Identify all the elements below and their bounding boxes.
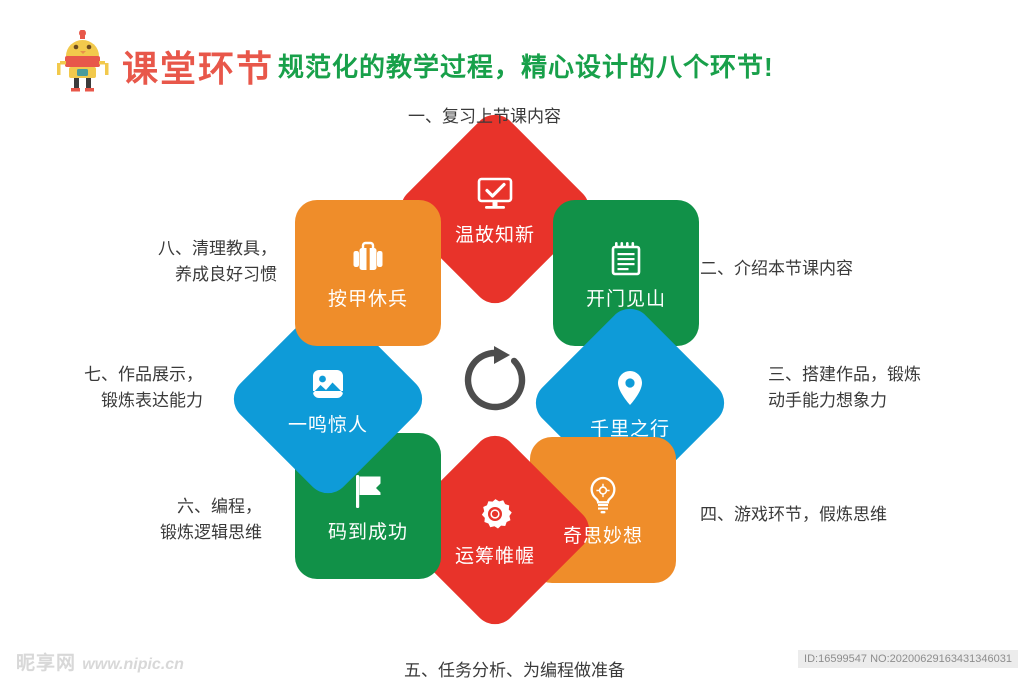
label-line-2: 锻炼表达能力 (84, 388, 203, 414)
circular-arrow-refresh-icon (458, 343, 532, 417)
watermark-site-url: www.nipic.cn (82, 656, 184, 673)
label-line-2: 动手能力想象力 (768, 388, 921, 414)
label-line-1: 三、搭建作品，锻炼 (768, 365, 921, 384)
label-line-1: 六、编程， (177, 497, 262, 516)
label-line-1: 五、任务分析、为编程做准备 (404, 661, 625, 680)
step-label-5: 五、任务分析、为编程做准备 (404, 658, 625, 682)
label-line-1: 七、作品展示， (84, 365, 203, 384)
process-node-8[interactable]: 按甲休兵 (295, 200, 441, 346)
label-line-1: 二、介绍本节课内容 (700, 259, 853, 278)
node-caption: 码到成功 (328, 517, 408, 544)
notepad-icon (604, 236, 648, 280)
node-caption: 千里之行 (590, 414, 670, 441)
flag-icon (346, 469, 390, 513)
infographic-page: 课堂环节 规范化的教学过程，精心设计的八个环节! 温故知新 (0, 0, 1024, 682)
center-cycle-icon-wrap (450, 335, 540, 425)
process-node-7[interactable]: 一鸣惊人 (255, 326, 401, 472)
step-label-4: 四、游戏环节，假炼思维 (700, 502, 887, 528)
header: 课堂环节 规范化的教学过程，精心设计的八个环节! (0, 0, 1024, 100)
process-node-5[interactable]: 运筹帷幄 (422, 457, 568, 603)
label-line-2: 锻炼逻辑思维 (160, 520, 262, 546)
monitor-check-icon (473, 172, 517, 216)
step-label-7: 七、作品展示， 锻炼表达能力 (84, 362, 203, 414)
step-label-3: 三、搭建作品，锻炼 动手能力想象力 (768, 362, 921, 414)
label-line-1: 一、复习上节课内容 (408, 107, 561, 126)
step-label-8: 八、清理教具， 养成良好习惯 (158, 236, 277, 288)
map-pin-icon (608, 366, 652, 410)
label-line-2: 养成良好习惯 (158, 262, 277, 288)
photo-image-icon (306, 362, 350, 406)
lightbulb-icon (581, 473, 625, 517)
process-node-1[interactable]: 温故知新 (422, 136, 568, 282)
gear-icon (473, 493, 517, 537)
watermark-id-badge: ID:16599547 NO:20200629163431346031 (798, 650, 1018, 668)
step-label-6: 六、编程， 锻炼逻辑思维 (160, 494, 262, 546)
watermark-site-name: 昵享网 (16, 653, 76, 674)
process-wheel: 温故知新 开门见山 (245, 130, 745, 630)
label-line-1: 四、游戏环节，假炼思维 (700, 505, 887, 524)
page-title: 课堂环节 (122, 40, 274, 92)
watermark-left: 昵享网 www.nipic.cn (16, 648, 184, 675)
node-caption: 运筹帷幄 (455, 541, 535, 568)
step-label-2: 二、介绍本节课内容 (700, 256, 853, 282)
step-label-1: 一、复习上节课内容 (408, 104, 561, 130)
node-caption: 一鸣惊人 (288, 410, 368, 437)
node-caption: 奇思妙想 (563, 521, 643, 548)
node-caption: 开门见山 (586, 284, 666, 311)
page-subtitle: 规范化的教学过程，精心设计的八个环节! (278, 47, 774, 84)
node-caption: 温故知新 (455, 220, 535, 247)
briefcase-bag-icon (346, 236, 390, 280)
label-line-1: 八、清理教具， (158, 239, 277, 258)
node-caption: 按甲休兵 (328, 284, 408, 311)
robot-chick-mascot-icon (52, 30, 114, 92)
